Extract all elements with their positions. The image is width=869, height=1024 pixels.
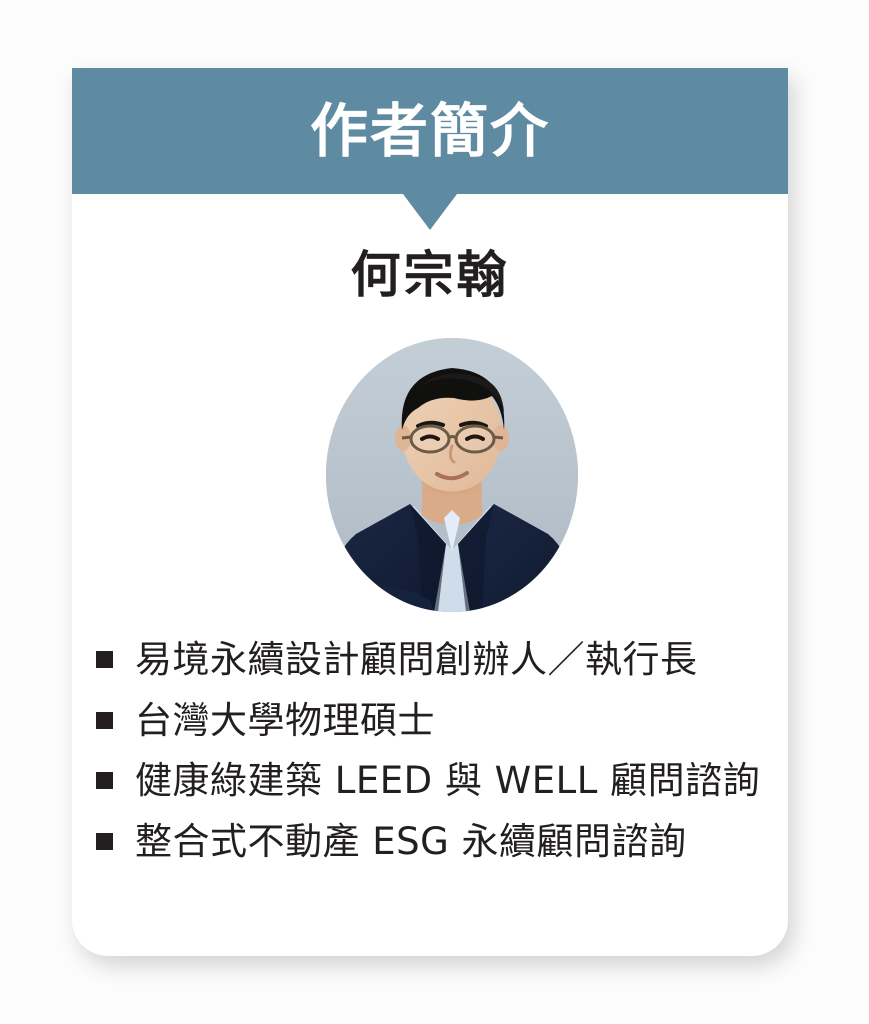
- bullet-square-icon: [96, 651, 113, 668]
- bullet-square-icon: [96, 833, 113, 850]
- credentials-list: 易境永續設計顧問創辦人／執行長 台灣大學物理碩士 健康綠建築 LEED 與 WE…: [96, 638, 786, 881]
- list-item: 易境永續設計顧問創辦人／執行長: [96, 638, 786, 682]
- bullet-square-icon: [96, 712, 113, 729]
- credential-text: 健康綠建築 LEED 與 WELL 顧問諮詢: [135, 759, 760, 803]
- list-item: 整合式不動產 ESG 永續顧問諮詢: [96, 820, 786, 864]
- portrait-illustration: [326, 338, 578, 612]
- card-header-banner: 作者簡介: [72, 68, 788, 194]
- list-item: 健康綠建築 LEED 與 WELL 顧問諮詢: [96, 759, 786, 803]
- author-profile-card: 作者簡介 何宗翰: [72, 68, 788, 956]
- credential-text: 整合式不動產 ESG 永續顧問諮詢: [135, 820, 687, 864]
- list-item: 台灣大學物理碩士: [96, 699, 786, 743]
- page-title: 作者簡介: [310, 102, 550, 160]
- triangle-down-icon: [403, 194, 457, 230]
- bullet-square-icon: [96, 772, 113, 789]
- credential-text: 台灣大學物理碩士: [135, 699, 435, 743]
- credential-text: 易境永續設計顧問創辦人／執行長: [135, 638, 698, 682]
- author-name: 何宗翰: [72, 248, 788, 303]
- avatar: [326, 338, 578, 612]
